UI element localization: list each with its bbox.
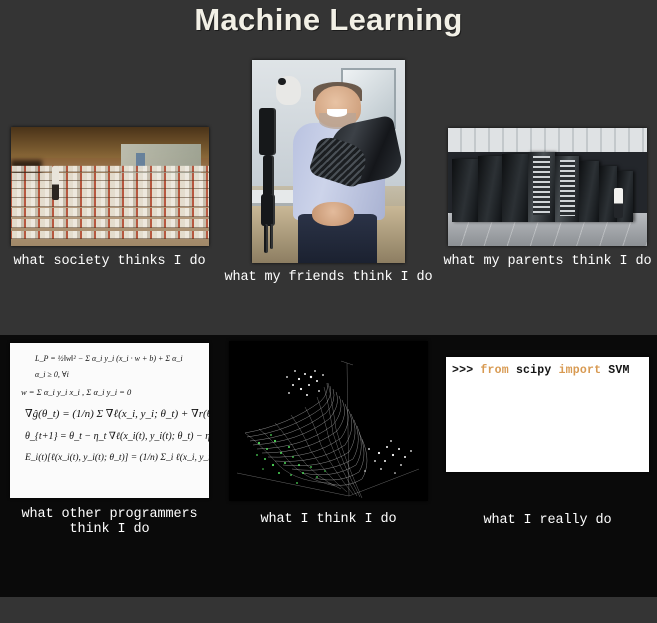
panel-caption: what other programmers think I do — [3, 507, 217, 537]
equation-line: α_i ≥ 0, ∀i — [35, 370, 200, 379]
console-imported-name: SVM — [608, 364, 629, 377]
equation-line: w = Σ α_i y_i x_i , Σ α_i y_i = 0 — [21, 387, 200, 397]
console-prompt: >>> — [452, 364, 473, 377]
meme-grid: what society thinks I do — [0, 52, 657, 597]
panel-caption: what my friends think I do — [222, 270, 436, 285]
console-keyword-from: from — [480, 364, 508, 377]
console-module-name: scipy — [516, 364, 552, 377]
meme-row-top: what society thinks I do — [0, 52, 657, 335]
panel-caption: what society thinks I do — [3, 254, 217, 269]
console-keyword-import: import — [559, 364, 602, 377]
equation-line: θ_{t+1} = θ_t − η_t ∇ℓ(x_i(t), y_i(t); θ… — [25, 431, 200, 442]
page-title: Machine Learning — [194, 2, 462, 38]
man-with-robot-arm-photo — [252, 60, 405, 263]
panel-parents: what my parents think I do — [438, 52, 657, 335]
panel-i-really-do: >>> from scipy import SVM what I really … — [438, 335, 657, 597]
meme-row-bottom: L_P = ½‖w‖² − Σ α_i y_i (x_i · w + b) + … — [0, 335, 657, 597]
supercomputer-server-room-photo — [448, 128, 647, 246]
equation-line: L_P = ½‖w‖² − Σ α_i y_i (x_i · w + b) + … — [35, 354, 200, 363]
meme-header: Machine Learning — [0, 0, 657, 52]
panel-caption: what I think I do — [222, 512, 436, 527]
3d-wireframe-separating-surface-plot — [229, 341, 428, 501]
console-code-line: >>> from scipy import SVM — [446, 357, 649, 377]
panel-i-think: what I think I do — [219, 335, 438, 597]
panel-caption: what my parents think I do — [441, 254, 655, 269]
auditorium-rows-of-seats-photo — [11, 127, 209, 246]
python-console-screenshot[interactable]: >>> from scipy import SVM — [446, 357, 649, 472]
panel-caption: what I really do — [441, 513, 655, 528]
footer-band — [0, 597, 657, 623]
panel-other-programmers: L_P = ½‖w‖² − Σ α_i y_i (x_i · w + b) + … — [0, 335, 219, 597]
equation-line: E_i(t)[ℓ(x_i(t), y_i(t); θ_t)] = (1/n) Σ… — [25, 453, 200, 463]
panel-friends: what my friends think I do — [219, 52, 438, 335]
equation-line: ∇ĝ(θ_t) = (1/n) Σ ∇ℓ(x_i, y_i; θ_t) + ∇r… — [25, 407, 200, 420]
mesh-surface-graphic — [229, 341, 428, 501]
svm-equations-image: L_P = ½‖w‖² − Σ α_i y_i (x_i · w + b) + … — [10, 343, 209, 498]
panel-society: what society thinks I do — [0, 52, 219, 335]
